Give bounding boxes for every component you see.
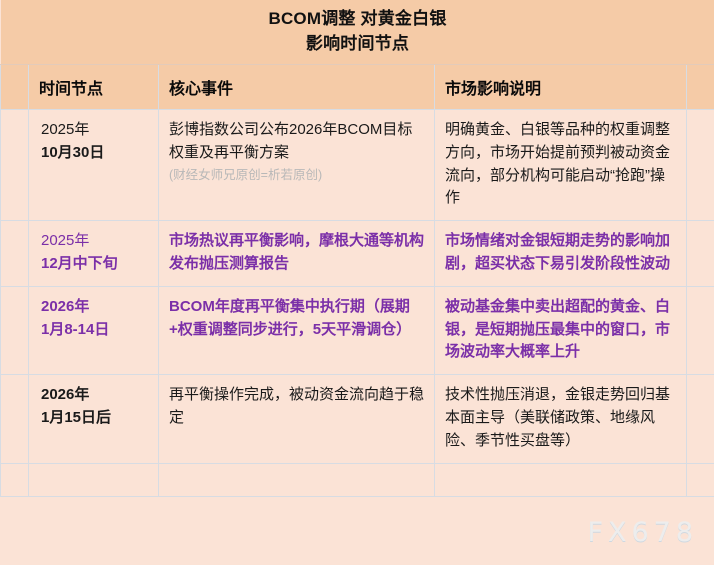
row-year: 2025年 bbox=[41, 119, 150, 142]
cell-time: 2025年 12月中下旬 bbox=[29, 221, 159, 287]
cell-time: 2025年 10月30日 bbox=[29, 110, 159, 221]
empty-cell bbox=[29, 463, 159, 496]
row-date: 10月30日 bbox=[41, 142, 150, 165]
cell-time: 2026年 1月15日后 bbox=[29, 375, 159, 463]
cell-time: 2026年 1月8-14日 bbox=[29, 286, 159, 374]
cell-impact: 市场情绪对金银短期走势的影响加剧，超买状态下易引发阶段性波动 bbox=[435, 221, 687, 287]
cell-event: 再平衡操作完成，被动资金流向趋于稳定 bbox=[159, 375, 435, 463]
row-year: 2026年 bbox=[41, 384, 150, 407]
cell-event: BCOM年度再平衡集中执行期（展期+权重调整同步进行，5天平滑调仓） bbox=[159, 286, 435, 374]
empty-cell bbox=[687, 463, 714, 496]
table-row: 2025年 12月中下旬 市场热议再平衡影响，摩根大通等机构发布抛压测算报告 市… bbox=[1, 221, 714, 287]
row-spacer-right bbox=[687, 286, 714, 374]
row-year: 2026年 bbox=[41, 296, 150, 319]
empty-cell bbox=[1, 463, 29, 496]
cell-impact: 被动基金集中卖出超配的黄金、白银，是短期抛压最集中的窗口，市场波动率大概率上升 bbox=[435, 286, 687, 374]
title-line-1: BCOM调整 对黄金白银 bbox=[1, 7, 714, 32]
row-date: 1月8-14日 bbox=[41, 319, 150, 342]
row-event-text: 彭博指数公司公布2026年BCOM目标权重及再平衡方案 bbox=[169, 121, 412, 161]
table-row: 2026年 1月15日后 再平衡操作完成，被动资金流向趋于稳定 技术性抛压消退，… bbox=[1, 375, 714, 463]
row-spacer-left bbox=[1, 286, 29, 374]
row-event-text: 再平衡操作完成，被动资金流向趋于稳定 bbox=[159, 375, 434, 440]
cell-impact: 明确黄金、白银等品种的权重调整方向，市场开始提前预判被动资金流向，部分机构可能启… bbox=[435, 110, 687, 221]
row-date: 1月15日后 bbox=[41, 407, 150, 430]
column-header-time-label: 时间节点 bbox=[29, 75, 158, 99]
empty-cell bbox=[159, 463, 435, 496]
title-row: BCOM调整 对黄金白银 影响时间节点 bbox=[1, 0, 714, 65]
page-title: BCOM调整 对黄金白银 影响时间节点 bbox=[1, 0, 714, 65]
cell-event: 彭博指数公司公布2026年BCOM目标权重及再平衡方案 (财经女师兄原创=析若原… bbox=[159, 110, 435, 221]
column-header-event: 核心事件 bbox=[159, 65, 435, 110]
row-event-text: BCOM年度再平衡集中执行期（展期+权重调整同步进行，5天平滑调仓） bbox=[159, 287, 434, 352]
cell-impact: 技术性抛压消退，金银走势回归基本面主导（美联储政策、地缘风险、季节性买盘等） bbox=[435, 375, 687, 463]
row-date: 12月中下旬 bbox=[41, 253, 150, 276]
row-event-text: 市场热议再平衡影响，摩根大通等机构发布抛压测算报告 bbox=[159, 221, 434, 286]
row-year: 2025年 bbox=[41, 230, 150, 253]
title-line-2: 影响时间节点 bbox=[1, 32, 714, 57]
column-header-time: 时间节点 bbox=[29, 65, 159, 110]
column-header-impact: 市场影响说明 bbox=[435, 65, 687, 110]
cell-event: 市场热议再平衡影响，摩根大通等机构发布抛压测算报告 bbox=[159, 221, 435, 287]
watermark: FX678 bbox=[587, 517, 698, 548]
row-impact-text: 被动基金集中卖出超配的黄金、白银，是短期抛压最集中的窗口，市场波动率大概率上升 bbox=[435, 287, 686, 374]
row-spacer-left bbox=[1, 221, 29, 287]
table-row: 2026年 1月8-14日 BCOM年度再平衡集中执行期（展期+权重调整同步进行… bbox=[1, 286, 714, 374]
table-row: 2025年 10月30日 彭博指数公司公布2026年BCOM目标权重及再平衡方案… bbox=[1, 110, 714, 221]
row-impact-text: 市场情绪对金银短期走势的影响加剧，超买状态下易引发阶段性波动 bbox=[435, 221, 686, 286]
timeline-table: BCOM调整 对黄金白银 影响时间节点 时间节点 核心事件 市场影响说明 202 bbox=[0, 0, 714, 497]
row-spacer-left bbox=[1, 375, 29, 463]
table-row-empty bbox=[1, 463, 714, 496]
row-spacer-right bbox=[687, 375, 714, 463]
row-spacer-right bbox=[687, 110, 714, 221]
row-impact-text: 技术性抛压消退，金银走势回归基本面主导（美联储政策、地缘风险、季节性买盘等） bbox=[435, 375, 686, 462]
header-spacer-left bbox=[1, 65, 29, 110]
empty-cell bbox=[435, 463, 687, 496]
column-header-impact-label: 市场影响说明 bbox=[435, 75, 686, 99]
row-spacer-left bbox=[1, 110, 29, 221]
header-spacer-right bbox=[687, 65, 714, 110]
spreadsheet-canvas: BCOM调整 对黄金白银 影响时间节点 时间节点 核心事件 市场影响说明 202 bbox=[0, 0, 714, 565]
column-header-event-label: 核心事件 bbox=[159, 75, 434, 99]
row-event-note: (财经女师兄原创=析若原创) bbox=[169, 167, 426, 183]
table-header-row: 时间节点 核心事件 市场影响说明 bbox=[1, 65, 714, 110]
row-spacer-right bbox=[687, 221, 714, 287]
row-impact-text: 明确黄金、白银等品种的权重调整方向，市场开始提前预判被动资金流向，部分机构可能启… bbox=[435, 110, 686, 220]
